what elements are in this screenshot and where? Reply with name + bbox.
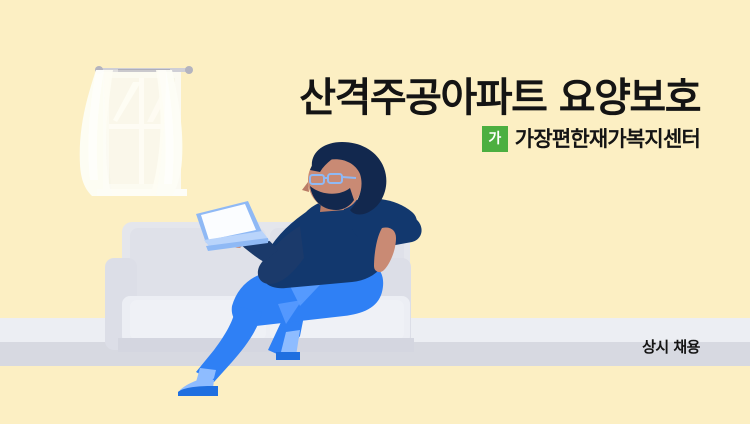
glasses-temple <box>342 177 356 178</box>
recruit-status-label: 상시 채용 <box>0 336 700 357</box>
promo-banner: 산격주공아파트 요양보호 가 가장편한재가복지센터 상시 채용 <box>0 0 750 424</box>
page-title: 산격주공아파트 요양보호 <box>299 72 700 124</box>
headline-wrapper: 산격주공아파트 요양보호 <box>0 72 700 124</box>
subtitle-row: 가 가장편한재가복지센터 <box>482 126 700 152</box>
subtitle-wrapper: 가 가장편한재가복지센터 <box>0 126 700 152</box>
headline-prefix: 산 <box>299 75 334 121</box>
company-name: 가장편한재가복지센터 <box>515 126 700 152</box>
headline-suffix: 아파트 요양보호 <box>440 75 700 121</box>
couch-laptop-illustration <box>0 0 750 424</box>
headline-highlight: 격주공 <box>335 72 441 124</box>
company-badge: 가 <box>482 126 508 152</box>
